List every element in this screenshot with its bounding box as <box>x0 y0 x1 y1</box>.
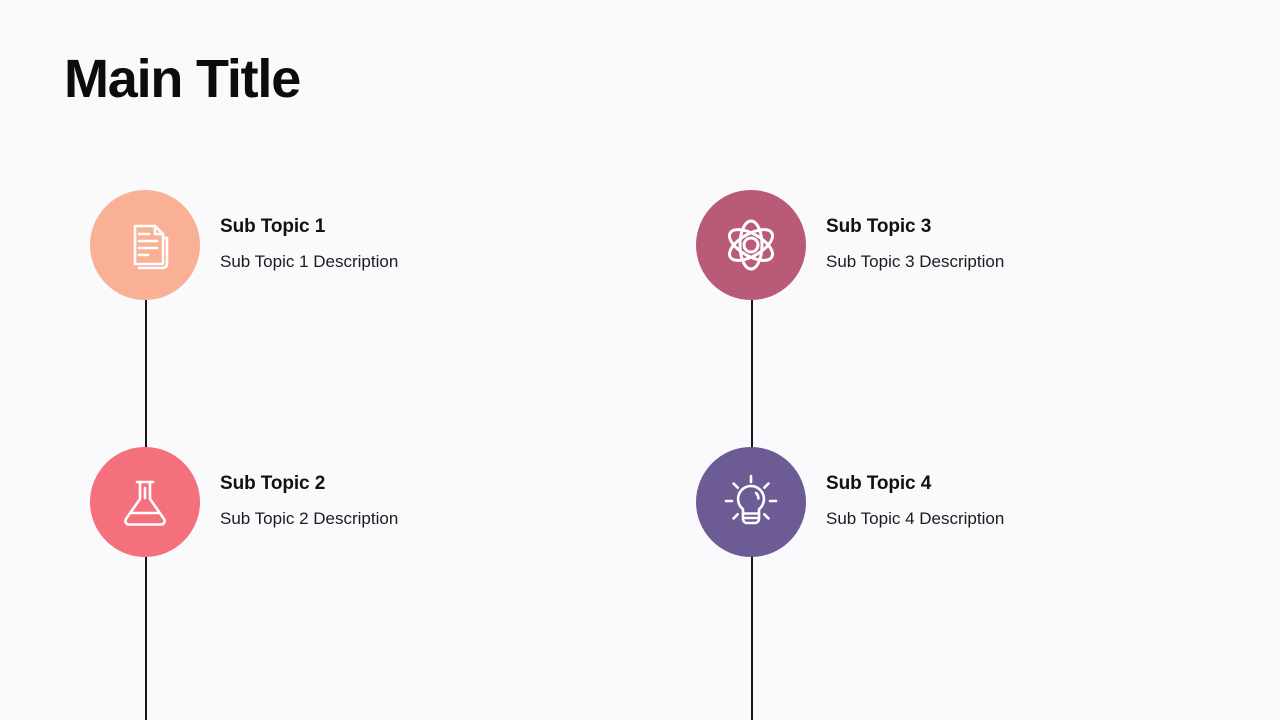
icon-circle-sub-topic-2[interactable] <box>90 447 200 557</box>
icon-circle-sub-topic-4[interactable] <box>696 447 806 557</box>
icon-circle-sub-topic-1[interactable] <box>90 190 200 300</box>
node-title-sub-topic-2: Sub Topic 2 <box>220 472 398 496</box>
slide-canvas: Main Title Sub Topic 1 Sub Topic 1 Descr… <box>0 0 1280 720</box>
documents-icon <box>117 216 173 274</box>
node-sub-topic-2[interactable]: Sub Topic 2 Sub Topic 2 Description <box>90 447 398 557</box>
node-title-sub-topic-1: Sub Topic 1 <box>220 215 398 239</box>
node-description-sub-topic-1: Sub Topic 1 Description <box>220 251 398 273</box>
node-sub-topic-3[interactable]: Sub Topic 3 Sub Topic 3 Description <box>696 190 1004 300</box>
node-sub-topic-1[interactable]: Sub Topic 1 Sub Topic 1 Description <box>90 190 398 300</box>
node-description-sub-topic-3: Sub Topic 3 Description <box>826 251 1004 273</box>
node-text-sub-topic-2: Sub Topic 2 Sub Topic 2 Description <box>220 472 398 533</box>
lightbulb-icon <box>721 472 781 532</box>
node-description-sub-topic-2: Sub Topic 2 Description <box>220 508 398 530</box>
node-text-sub-topic-1: Sub Topic 1 Sub Topic 1 Description <box>220 215 398 276</box>
icon-circle-sub-topic-3[interactable] <box>696 190 806 300</box>
node-sub-topic-4[interactable]: Sub Topic 4 Sub Topic 4 Description <box>696 447 1004 557</box>
flask-icon <box>116 473 174 531</box>
node-title-sub-topic-4: Sub Topic 4 <box>826 472 1004 496</box>
node-title-sub-topic-3: Sub Topic 3 <box>826 215 1004 239</box>
node-description-sub-topic-4: Sub Topic 4 Description <box>826 508 1004 530</box>
atom-icon <box>720 214 782 276</box>
node-text-sub-topic-4: Sub Topic 4 Sub Topic 4 Description <box>826 472 1004 533</box>
page-title: Main Title <box>64 48 300 110</box>
node-text-sub-topic-3: Sub Topic 3 Sub Topic 3 Description <box>826 215 1004 276</box>
